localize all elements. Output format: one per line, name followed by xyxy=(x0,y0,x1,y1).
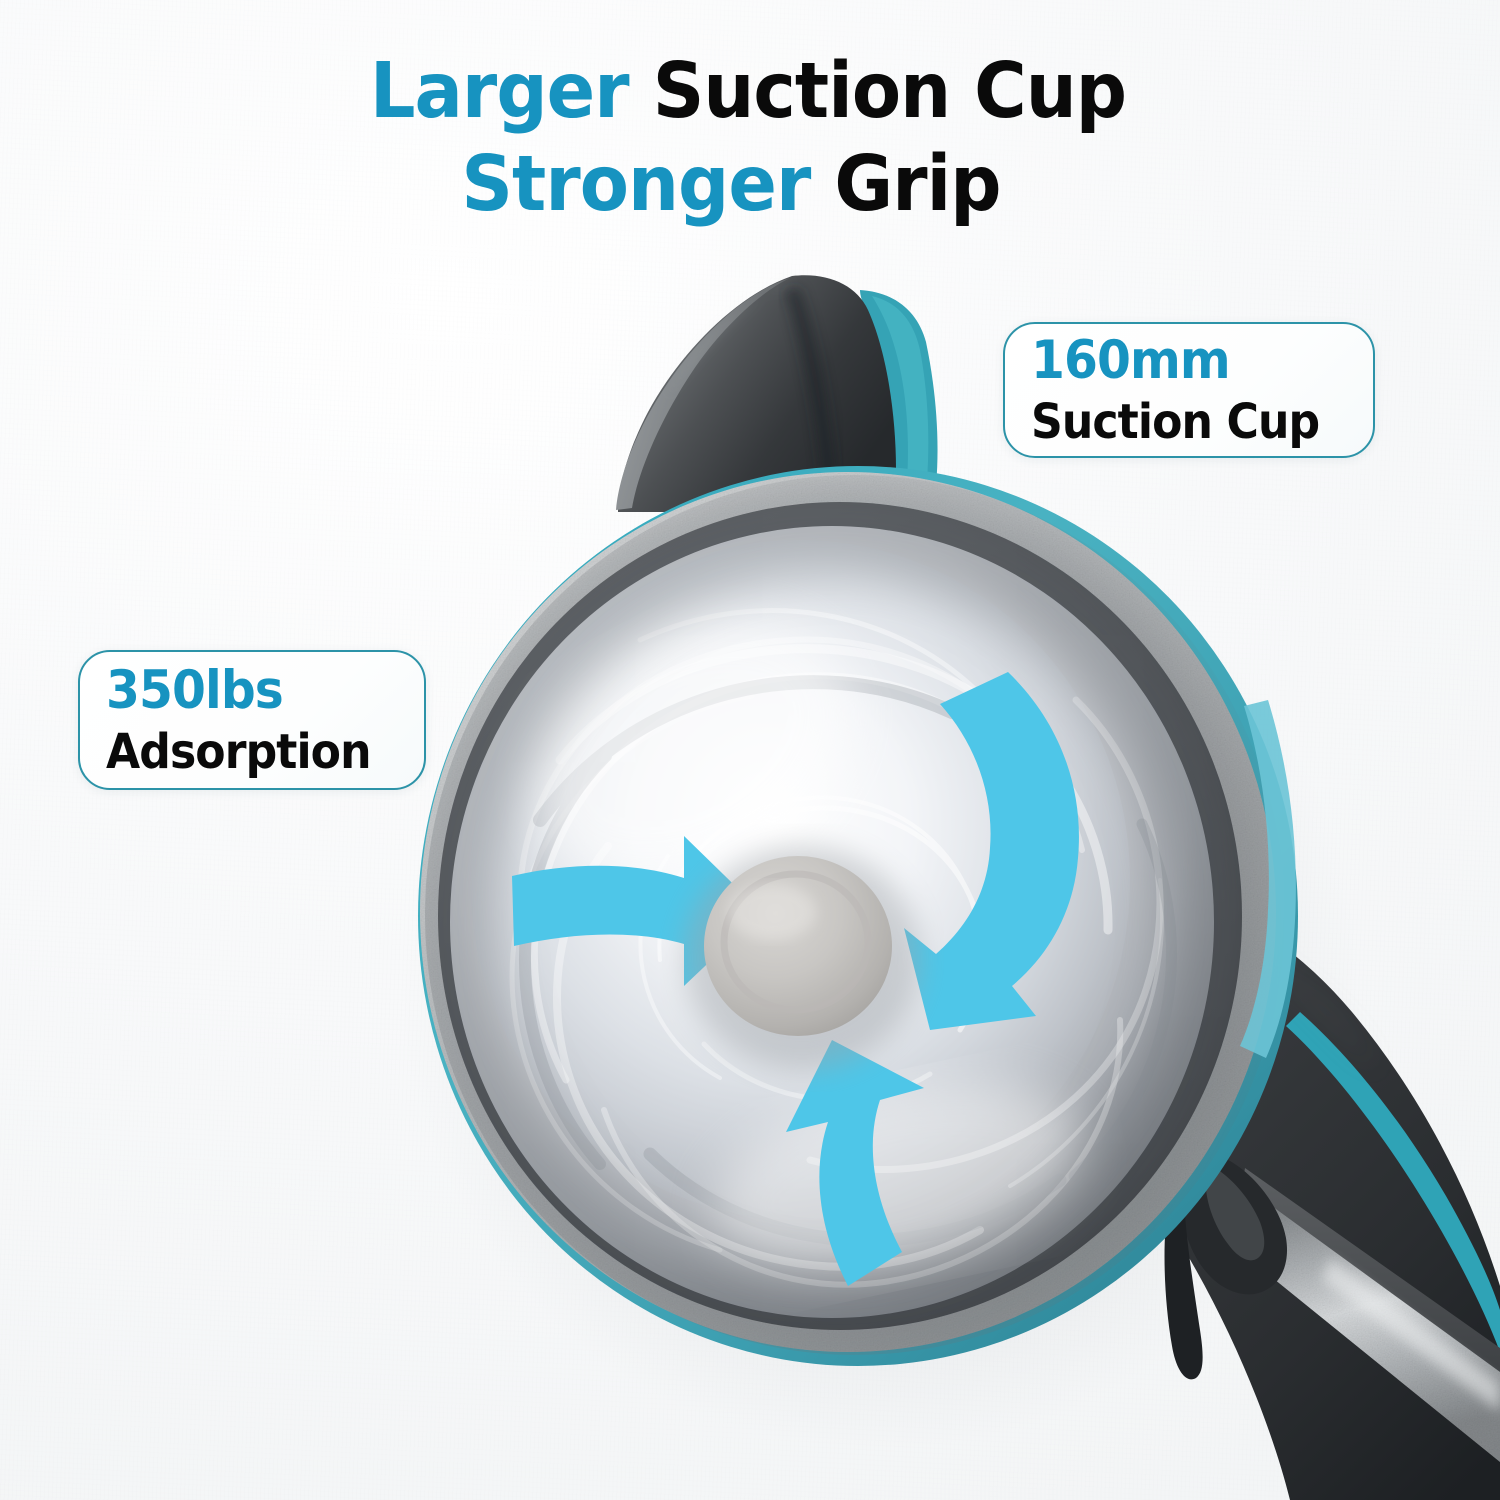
headline-line-2: Stronger Grip xyxy=(16,145,1446,224)
headline-line-1: Larger Suction Cup xyxy=(49,52,1448,131)
callout-badge-adsorption: 350lbs Adsorption xyxy=(78,650,426,790)
headline-line-1-accent: Larger xyxy=(370,47,629,136)
badge-value-350lbs: 350lbs xyxy=(106,664,399,717)
product-feature-graphic: Larger Suction Cup Stronger Grip 160mm S… xyxy=(0,0,1500,1500)
callout-badge-suction-cup: 160mm Suction Cup xyxy=(1003,322,1375,458)
headline-line-2-accent: Stronger xyxy=(461,140,810,229)
headline-line-1-dark: Suction Cup xyxy=(653,47,1126,136)
badge-value-160mm: 160mm xyxy=(1031,334,1346,387)
badge-label-suction-cup: Suction Cup xyxy=(1031,398,1346,446)
headline-line-2-dark: Grip xyxy=(834,140,1000,229)
hub-highlight xyxy=(728,884,816,940)
page-title: Larger Suction Cup Stronger Grip xyxy=(0,52,1500,225)
badge-label-adsorption: Adsorption xyxy=(106,728,399,776)
suction-cup-assembly xyxy=(418,466,1298,1366)
center-hub xyxy=(684,846,920,1070)
